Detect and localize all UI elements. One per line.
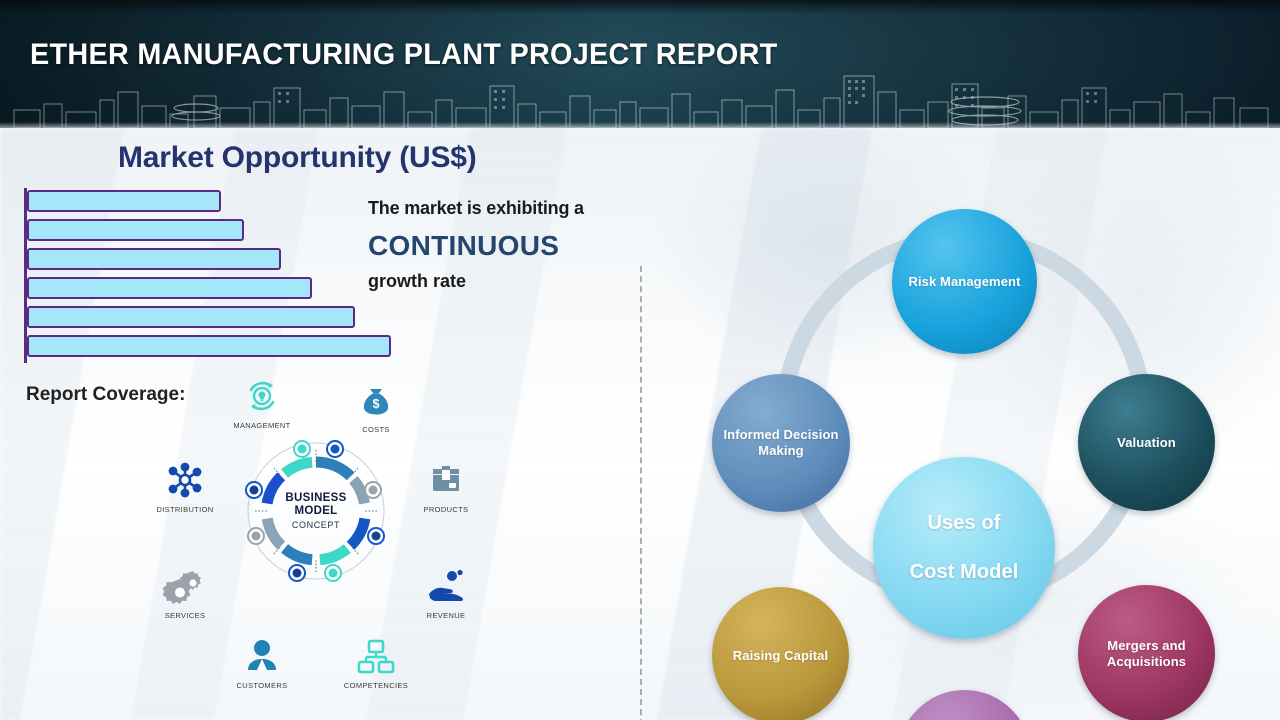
coverage-label-text: CUSTOMERS (214, 681, 310, 690)
report-coverage-label: Report Coverage: (26, 384, 185, 406)
market-opportunity-heading: Market Opportunity (US$) (118, 141, 477, 175)
coverage-item-products[interactable]: PRODUCTS (398, 458, 494, 514)
narrative-line-1: The market is exhibiting a (368, 198, 634, 219)
box-icon (398, 458, 494, 502)
coverage-label-text: SERVICES (137, 611, 233, 620)
bubble-mergers-acquisitions[interactable]: Mergers and Acquisitions (1078, 585, 1215, 720)
bubble-risk-management[interactable]: Risk Management (892, 209, 1037, 354)
gears-icon (137, 564, 233, 608)
city-skyline-graphic (0, 66, 1280, 128)
bm-line-2: MODEL (294, 505, 337, 518)
org-chart-icon (328, 634, 424, 678)
slide-body: Market Opportunity (US$) The market is e… (0, 128, 1280, 720)
user-group-icon (214, 634, 310, 678)
coverage-label-text: PRODUCTS (398, 505, 494, 514)
bar-row (27, 277, 312, 299)
coverage-item-customers[interactable]: CUSTOMERS (214, 634, 310, 690)
bubble-label: Informed Decision Making (712, 427, 850, 459)
bar-row (27, 219, 244, 241)
bm-line-1: BUSINESS (285, 492, 346, 505)
network-nodes-icon (137, 458, 233, 502)
bar-row (27, 248, 281, 270)
coverage-item-competencies[interactable]: COMPETENCIES (328, 634, 424, 690)
center-bubble-line-1: Uses of (904, 511, 1025, 535)
bubble-label: Uses of Cost Model (898, 511, 1031, 584)
bubble-informed-decision-making[interactable]: Informed Decision Making (712, 374, 850, 512)
bar-row (27, 306, 355, 328)
coverage-label-text: REVENUE (398, 611, 494, 620)
bar-row (27, 335, 391, 357)
left-panel: Market Opportunity (US$) The market is e… (0, 128, 640, 720)
page-header: ETHER MANUFACTURING PLANT PROJECT REPORT (0, 0, 1280, 128)
svg-text:$: $ (373, 397, 380, 411)
coverage-item-services[interactable]: SERVICES (137, 564, 233, 620)
business-model-center-label: BUSINESS MODEL CONCEPT (245, 440, 387, 582)
coverage-item-revenue[interactable]: REVENUE (398, 564, 494, 620)
coverage-item-management[interactable]: MANAGEMENT (214, 374, 310, 430)
bm-line-3: CONCEPT (292, 520, 340, 530)
hand-coin-icon (398, 564, 494, 608)
bubble-raising-capital[interactable]: Raising Capital (712, 587, 849, 720)
coverage-label-text: MANAGEMENT (214, 421, 310, 430)
center-bubble-line-2: Cost Model (904, 560, 1025, 584)
market-narrative: The market is exhibiting a CONTINUOUS gr… (368, 198, 634, 292)
coverage-label-text: DISTRIBUTION (137, 505, 233, 514)
market-opportunity-bar-chart (24, 188, 424, 363)
management-cycle-icon (214, 374, 310, 418)
bubble-label: Raising Capital (727, 648, 834, 664)
bubble-label: Mergers and Acquisitions (1078, 638, 1215, 670)
narrative-emphasis: CONTINUOUS (368, 230, 634, 262)
coverage-item-distribution[interactable]: DISTRIBUTION (137, 458, 233, 514)
bubble-uses-of-cost-model[interactable]: Uses of Cost Model (873, 457, 1055, 639)
header-top-shade (0, 0, 1280, 14)
narrative-line-3: growth rate (368, 271, 634, 292)
page-title: ETHER MANUFACTURING PLANT PROJECT REPORT (30, 38, 778, 72)
bubble-valuation[interactable]: Valuation (1078, 374, 1215, 511)
money-bag-icon: $ (328, 378, 424, 422)
bubble-label: Risk Management (902, 274, 1026, 290)
bar-row (27, 190, 221, 212)
business-model-wheel: BUSINESS MODEL CONCEPT (245, 440, 387, 582)
coverage-label-text: COSTS (328, 425, 424, 434)
bubble-label: Valuation (1111, 435, 1182, 451)
coverage-item-costs[interactable]: $ COSTS (328, 378, 424, 434)
coverage-label-text: COMPETENCIES (328, 681, 424, 690)
